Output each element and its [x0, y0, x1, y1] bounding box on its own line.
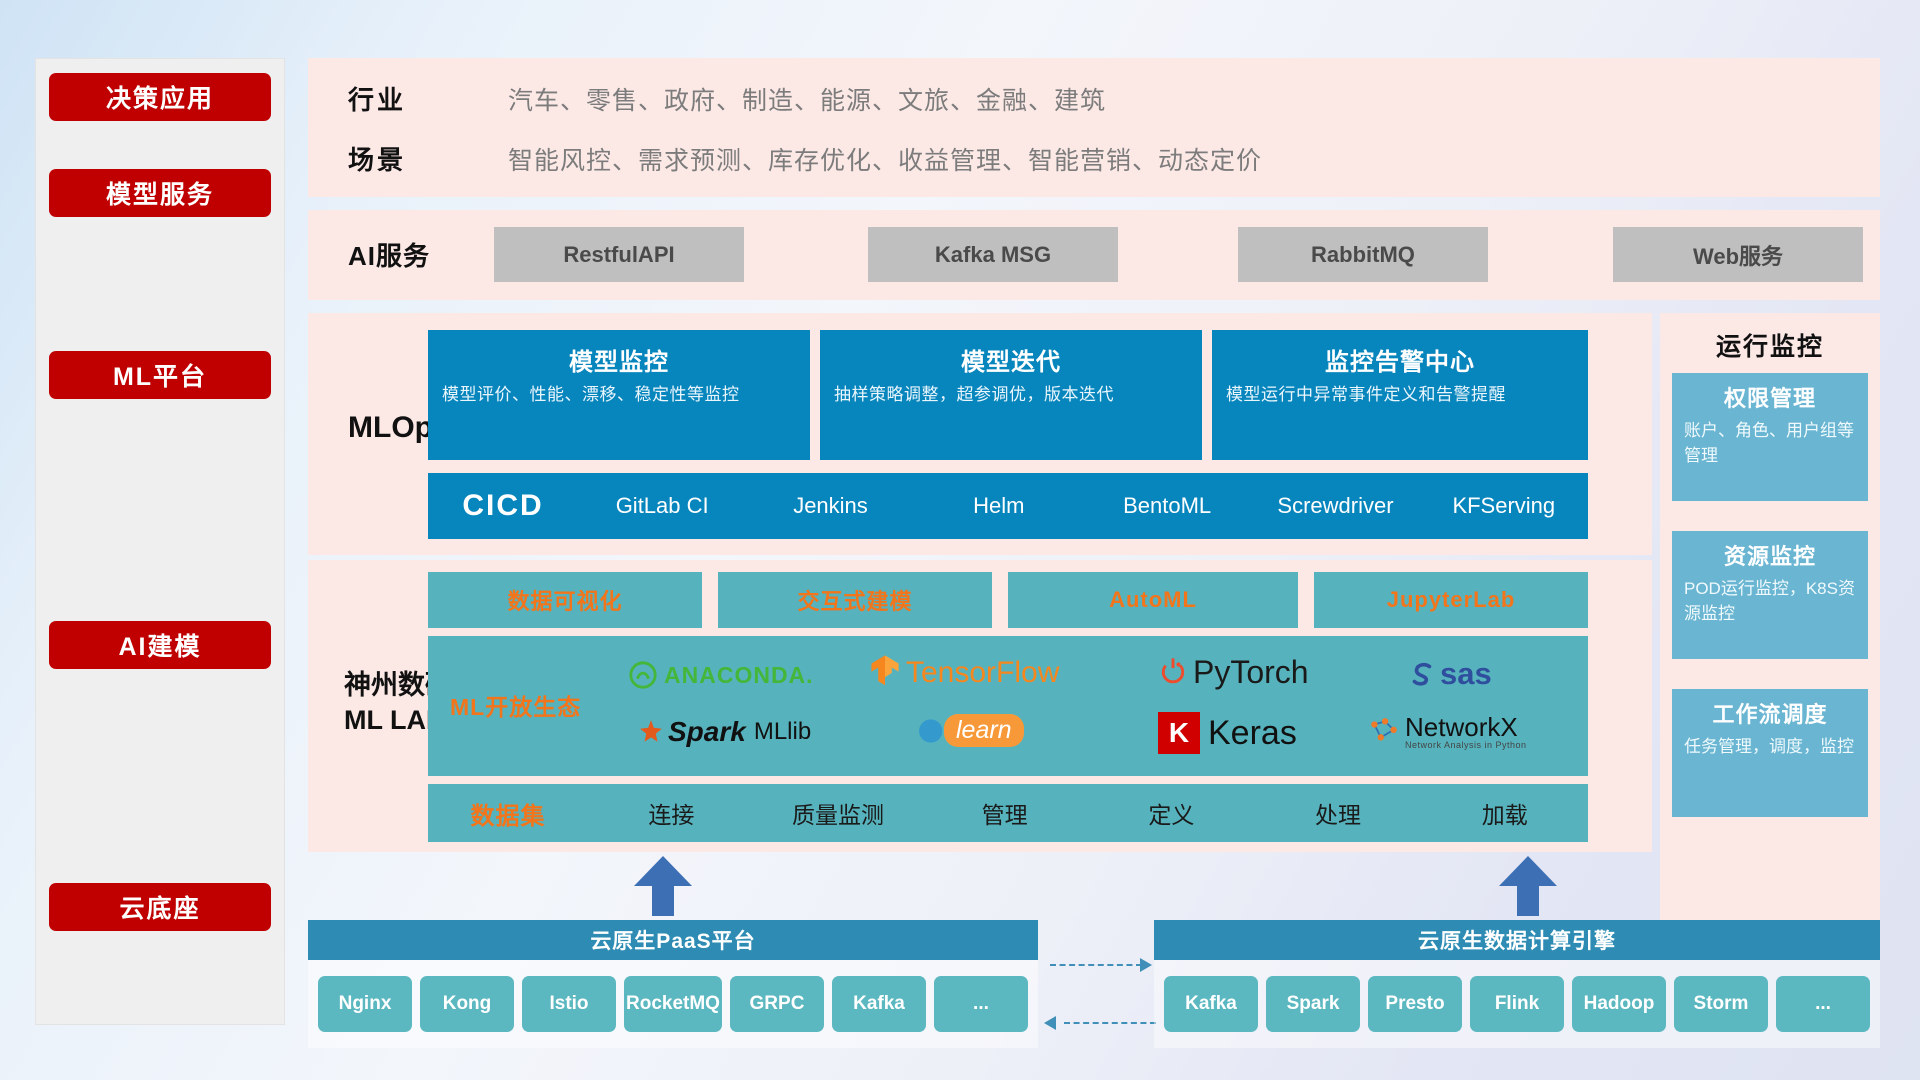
paas-chip-grpc[interactable]: GRPC — [730, 976, 824, 1032]
paas-block: 云原生PaaS平台 Nginx Kong Istio RocketMQ GRPC… — [308, 920, 1038, 1048]
ops-card-desc: 模型评价、性能、漂移、稳定性等监控 — [428, 383, 810, 408]
paas-chip-row: Nginx Kong Istio RocketMQ GRPC Kafka ... — [308, 960, 1038, 1048]
dataset-item-process[interactable]: 处理 — [1255, 796, 1422, 830]
ecosystem-logo-grid: ANACONDA. TensorFlow PyTorch sas — [618, 640, 1578, 772]
left-layer-rail: 决策应用 模型服务 ML平台 AI建模 云底座 — [35, 58, 285, 1025]
ops-card-title: 模型监控 — [428, 330, 810, 383]
monitor-card-title: 资源监控 — [1684, 539, 1856, 571]
dataset-bar: 数据集 连接 质量监测 管理 定义 处理 加载 — [428, 784, 1588, 842]
monitor-card-desc: 任务管理，调度，监控 — [1684, 735, 1856, 760]
keras-logo: K Keras — [1158, 712, 1297, 754]
industry-scene-panel: 行业 汽车、零售、政府、制造、能源、文旅、金融、建筑 场景 智能风控、需求预测、… — [308, 58, 1880, 197]
compute-chip-hadoop[interactable]: Hadoop — [1572, 976, 1666, 1032]
ops-card-desc: 模型运行中异常事件定义和告警提醒 — [1212, 383, 1588, 408]
ai-chip-kafka-msg[interactable]: Kafka MSG — [868, 227, 1118, 282]
paas-chip-kong[interactable]: Kong — [420, 976, 514, 1032]
industry-label: 行业 — [348, 80, 406, 117]
lab-tab-data-visualization[interactable]: 数据可视化 — [428, 572, 702, 628]
ml-open-ecosystem: ML开放生态 ANACONDA. TensorFlow PyTorch — [428, 636, 1588, 776]
compute-chip-flink[interactable]: Flink — [1470, 976, 1564, 1032]
scikit-learn-logo: learn — [918, 714, 1024, 747]
architecture-diagram: 决策应用 模型服务 ML平台 AI建模 云底座 行业 汽车、零售、政府、制造、能… — [0, 0, 1920, 1080]
paas-chip-rocketmq[interactable]: RocketMQ — [624, 976, 722, 1032]
cicd-item-gitlab-ci[interactable]: GitLab CI — [578, 495, 746, 517]
compute-chip-presto[interactable]: Presto — [1368, 976, 1462, 1032]
networkx-logo-text: NetworkX — [1405, 714, 1527, 741]
lab-tab-interactive-modeling[interactable]: 交互式建模 — [718, 572, 992, 628]
lab-tab-jupyterlab[interactable]: JupyterLab — [1314, 572, 1588, 628]
tensorflow-logo-text: TensorFlow — [906, 656, 1059, 690]
rail-item-decision-app[interactable]: 决策应用 — [49, 73, 271, 121]
compute-chip-row: Kafka Spark Presto Flink Hadoop Storm ..… — [1154, 960, 1880, 1048]
ml-open-ecosystem-label: ML开放生态 — [450, 688, 581, 722]
monitor-card-title: 权限管理 — [1684, 381, 1856, 413]
sas-logo-text: sas — [1440, 656, 1492, 692]
keras-logo-text: Keras — [1208, 714, 1297, 753]
run-monitor-title: 运行监控 — [1660, 327, 1880, 363]
mllib-text: MLlib — [754, 718, 811, 746]
paas-chip-kafka[interactable]: Kafka — [832, 976, 926, 1032]
paas-chip-istio[interactable]: Istio — [522, 976, 616, 1032]
scikit-learn-logo-text: learn — [944, 714, 1024, 747]
cloud-foundation: 云原生PaaS平台 Nginx Kong Istio RocketMQ GRPC… — [308, 900, 1880, 1050]
monitor-card-resource[interactable]: 资源监控 POD运行监控，K8S资源监控 — [1672, 531, 1868, 659]
paas-chip-nginx[interactable]: Nginx — [318, 976, 412, 1032]
ml-lab-panel: 神州数码 ML LAB 数据可视化 交互式建模 AutoML JupyterLa… — [308, 560, 1652, 852]
monitor-card-desc: POD运行监控，K8S资源监控 — [1684, 577, 1856, 626]
spark-mllib-logo: Spark MLlib — [638, 716, 811, 748]
scene-text: 智能风控、需求预测、库存优化、收益管理、智能营销、动态定价 — [508, 141, 1262, 177]
ops-card-alert-center[interactable]: 监控告警中心 模型运行中异常事件定义和告警提醒 — [1212, 330, 1588, 460]
sas-logo: sas — [1408, 656, 1492, 692]
cicd-item-jenkins[interactable]: Jenkins — [746, 495, 914, 517]
paas-chip-more[interactable]: ... — [934, 976, 1028, 1032]
dataset-item-load[interactable]: 加载 — [1421, 796, 1588, 830]
ai-service-label: AI服务 — [348, 236, 430, 273]
dataset-item-quality[interactable]: 质量监测 — [755, 796, 922, 830]
dataset-item-connect[interactable]: 连接 — [588, 796, 755, 830]
run-monitor-panel: 运行监控 权限管理 账户、角色、用户组等管理 资源监控 POD运行监控，K8S资… — [1660, 313, 1880, 933]
anaconda-logo: ANACONDA. — [628, 660, 814, 690]
mlops-panel: MLOps 模型监控 模型评价、性能、漂移、稳定性等监控 模型迭代 抽样策略调整… — [308, 313, 1652, 555]
compute-chip-storm[interactable]: Storm — [1674, 976, 1768, 1032]
industry-text: 汽车、零售、政府、制造、能源、文旅、金融、建筑 — [508, 81, 1106, 117]
monitor-card-desc: 账户、角色、用户组等管理 — [1684, 419, 1856, 468]
cicd-bar: CICD GitLab CI Jenkins Helm BentoML Scre… — [428, 473, 1588, 539]
rail-item-ai-modeling[interactable]: AI建模 — [49, 621, 271, 669]
monitor-card-title: 工作流调度 — [1684, 697, 1856, 729]
pytorch-logo-text: PyTorch — [1193, 654, 1309, 691]
ops-card-model-monitor[interactable]: 模型监控 模型评价、性能、漂移、稳定性等监控 — [428, 330, 810, 460]
compute-chip-kafka[interactable]: Kafka — [1164, 976, 1258, 1032]
cicd-item-helm[interactable]: Helm — [915, 495, 1083, 517]
lab-tab-automl[interactable]: AutoML — [1008, 572, 1298, 628]
scene-label: 场景 — [348, 140, 406, 177]
rail-item-ml-platform[interactable]: ML平台 — [49, 351, 271, 399]
cicd-item-bentoml[interactable]: BentoML — [1083, 495, 1251, 517]
anaconda-logo-text: ANACONDA. — [664, 662, 814, 689]
dataset-title: 数据集 — [428, 796, 588, 831]
pytorch-logo: PyTorch — [1158, 654, 1309, 691]
ops-card-title: 监控告警中心 — [1212, 330, 1588, 383]
cicd-title: CICD — [428, 489, 578, 523]
ai-chip-restfulapi[interactable]: RestfulAPI — [494, 227, 744, 282]
tensorflow-logo: TensorFlow — [868, 654, 1059, 692]
dataset-item-define[interactable]: 定义 — [1088, 796, 1255, 830]
ai-service-panel: AI服务 RestfulAPI Kafka MSG RabbitMQ Web服务 — [308, 210, 1880, 300]
rail-item-cloud-base[interactable]: 云底座 — [49, 883, 271, 931]
cicd-item-kfserving[interactable]: KFServing — [1420, 495, 1588, 517]
paas-title: 云原生PaaS平台 — [308, 920, 1038, 960]
compute-chip-more[interactable]: ... — [1776, 976, 1870, 1032]
compute-chip-spark[interactable]: Spark — [1266, 976, 1360, 1032]
networkx-logo: NetworkX Network Analysis in Python — [1368, 714, 1527, 751]
ops-card-title: 模型迭代 — [820, 330, 1202, 383]
monitor-card-workflow[interactable]: 工作流调度 任务管理，调度，监控 — [1672, 689, 1868, 817]
rail-item-model-service[interactable]: 模型服务 — [49, 169, 271, 217]
ops-card-model-iteration[interactable]: 模型迭代 抽样策略调整，超参调优，版本迭代 — [820, 330, 1202, 460]
compute-title: 云原生数据计算引擎 — [1154, 920, 1880, 960]
ops-card-desc: 抽样策略调整，超参调优，版本迭代 — [820, 383, 1202, 408]
ai-chip-rabbitmq[interactable]: RabbitMQ — [1238, 227, 1488, 282]
monitor-card-permission[interactable]: 权限管理 账户、角色、用户组等管理 — [1672, 373, 1868, 501]
compute-block: 云原生数据计算引擎 Kafka Spark Presto Flink Hadoo… — [1154, 920, 1880, 1048]
cicd-item-screwdriver[interactable]: Screwdriver — [1251, 495, 1419, 517]
dataset-item-manage[interactable]: 管理 — [921, 796, 1088, 830]
ai-chip-web-service[interactable]: Web服务 — [1613, 227, 1863, 282]
